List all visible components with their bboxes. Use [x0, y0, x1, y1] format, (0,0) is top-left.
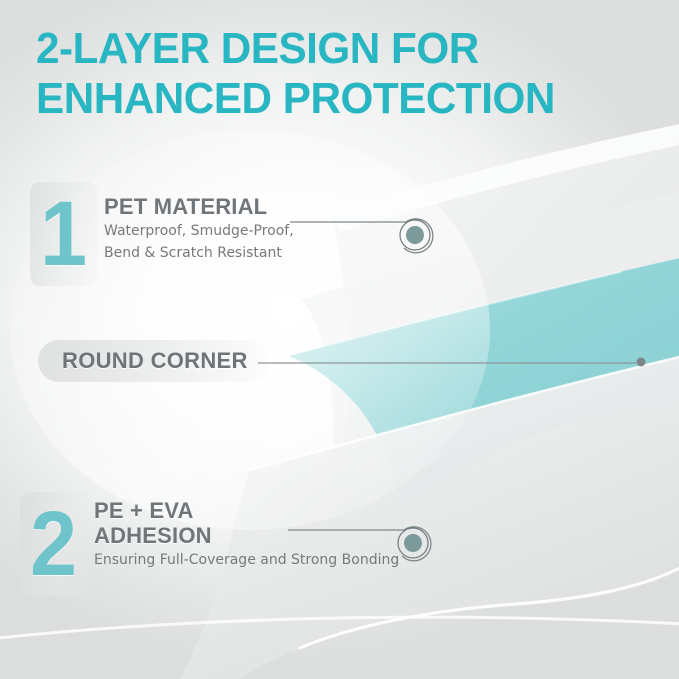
callout-2-text: PE + EVA ADHESION Ensuring Full-Coverage… [94, 492, 399, 570]
callout-2-number-panel: 2 [20, 492, 88, 596]
callout-1-heading: PET MATERIAL [104, 194, 294, 219]
title-line-2: ENHANCED PROTECTION [36, 74, 631, 124]
callout-2-number: 2 [30, 498, 77, 590]
callout-1-text: PET MATERIAL Waterproof, Smudge-Proof, B… [104, 182, 294, 263]
callout-1-description-line-2: Bend & Scratch Resistant [104, 244, 294, 263]
callout-2-description-line-1: Ensuring Full-Coverage and Strong Bondin… [94, 551, 399, 570]
round-corner-label: ROUND CORNER [38, 340, 270, 382]
callout-pet-material: 1 PET MATERIAL Waterproof, Smudge-Proof,… [30, 182, 294, 286]
callout-pe-eva-adhesion: 2 PE + EVA ADHESION Ensuring Full-Covera… [20, 492, 399, 596]
callout-2-heading-line-2: ADHESION [94, 523, 399, 548]
callout-1-number-panel: 1 [30, 182, 98, 286]
product-infographic: 2-LAYER DESIGN FOR ENHANCED PROTECTION 1… [0, 0, 679, 679]
callout-2-heading-line-1: PE + EVA [94, 498, 399, 523]
round-corner-label-text: ROUND CORNER [62, 348, 248, 374]
title-line-1: 2-LAYER DESIGN FOR [36, 24, 631, 74]
page-title: 2-LAYER DESIGN FOR ENHANCED PROTECTION [36, 24, 631, 124]
callout-1-description-line-1: Waterproof, Smudge-Proof, [104, 222, 294, 241]
callout-1-number: 1 [40, 188, 87, 280]
